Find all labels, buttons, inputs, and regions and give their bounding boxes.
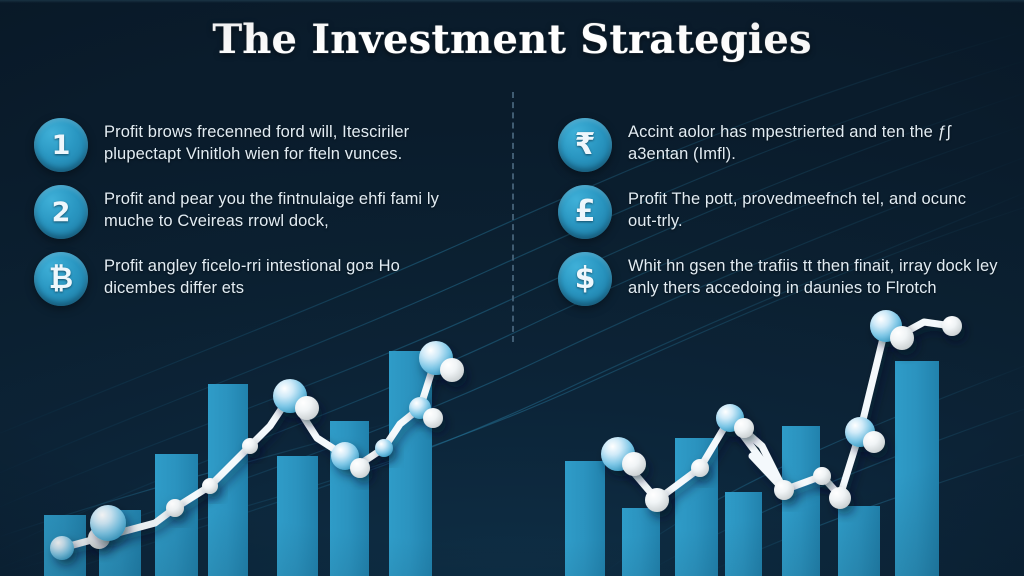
- right-bar-line-chart: [512, 296, 1024, 576]
- pound-icon: £: [558, 185, 612, 239]
- list-item-text: Profit and pear you the fintnulaige ehfi…: [104, 185, 474, 233]
- poster-canvas: The Investment Strategies 1 Profit brows…: [0, 0, 1024, 576]
- list-item[interactable]: 2 Profit and pear you the fintnulaige eh…: [34, 185, 474, 239]
- list-item[interactable]: ₹ Accint aolor has mpestrierted and ten …: [558, 118, 998, 172]
- right-strategy-list: ₹ Accint aolor has mpestrierted and ten …: [558, 118, 998, 319]
- number-two-badge: 2: [34, 185, 88, 239]
- left-strategy-list: 1 Profit brows frecenned ford will, Ites…: [34, 118, 474, 319]
- list-item-text: Whit hn gsen the trafiis tt then finait,…: [628, 252, 998, 300]
- list-item-text: Profit brows frecenned ford will, Itesci…: [104, 118, 474, 166]
- left-bar-line-chart: [0, 296, 512, 576]
- list-item[interactable]: 1 Profit brows frecenned ford will, Ites…: [34, 118, 474, 172]
- list-item-text: Profit angley ficelo-rri intestional go¤…: [104, 252, 474, 300]
- right-chart-svg: [512, 296, 1024, 576]
- list-item-text: Accint aolor has mpestrierted and ten th…: [628, 118, 998, 166]
- left-chart-svg: [0, 296, 512, 576]
- list-item-text: Profit The pott, provedmeefnch tel, and …: [628, 185, 998, 233]
- top-edge-highlight: [0, 0, 1024, 3]
- number-one-badge: 1: [34, 118, 88, 172]
- rupee-icon: ₹: [558, 118, 612, 172]
- list-item[interactable]: £ Profit The pott, provedmeefnch tel, an…: [558, 185, 998, 239]
- page-title: The Investment Strategies: [0, 16, 1024, 63]
